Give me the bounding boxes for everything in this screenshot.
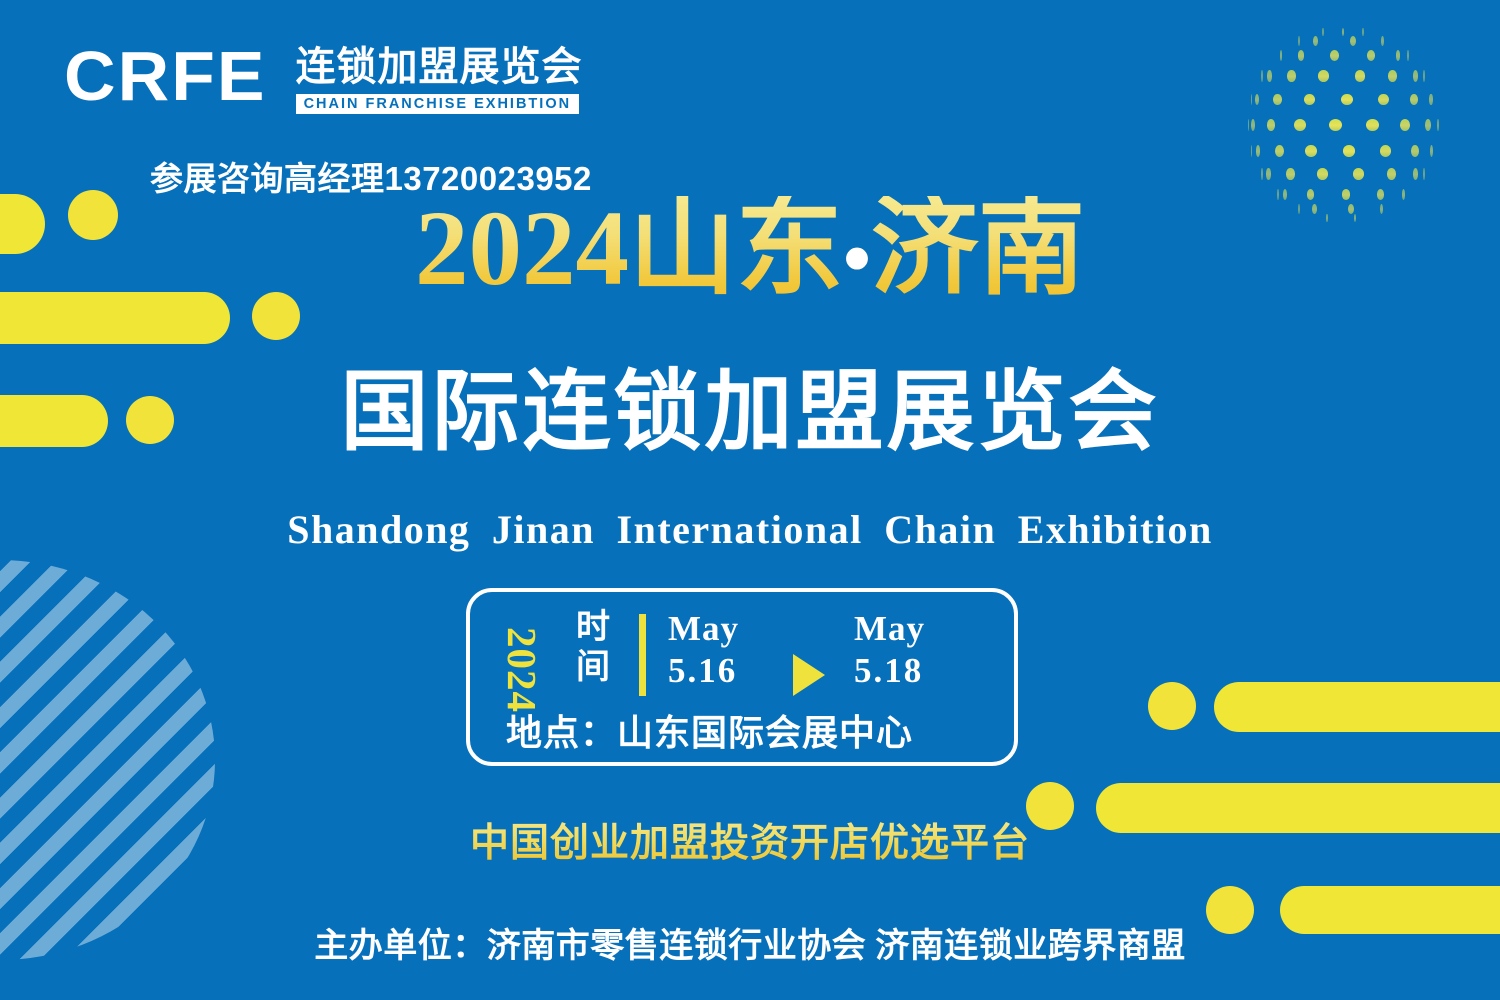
globe-dot — [1381, 36, 1384, 46]
info-start-date: May 5.16 — [668, 608, 739, 692]
decor-bar-right-1 — [1214, 682, 1500, 732]
tagline: 中国创业加盟投资开店优选平台 — [0, 812, 1500, 868]
globe-dot — [1305, 145, 1317, 157]
globe-dot — [1353, 168, 1364, 180]
globe-dot — [1437, 119, 1439, 131]
headline-title-en: Shandong Jinan International Chain Exhib… — [0, 506, 1500, 553]
globe-dot — [1251, 94, 1253, 106]
globe-dot — [1313, 36, 1318, 46]
globe-dot — [1367, 50, 1375, 61]
globe-dot — [1380, 145, 1391, 157]
globe-dot — [1388, 70, 1397, 82]
globe-dot — [1430, 145, 1433, 157]
globe-dot — [1286, 168, 1295, 180]
globe-dot — [1273, 94, 1282, 106]
globe-dot — [1387, 168, 1396, 180]
globe-dot — [1342, 28, 1345, 37]
striped-circle-decor — [0, 560, 215, 960]
brand-logo: CRFE 连锁加盟展览会 CHAIN FRANCHISE EXHIBTION — [64, 44, 534, 122]
headline-title-cn: 国际连锁加盟展览会 — [0, 370, 1500, 458]
info-start-month: May — [668, 608, 739, 650]
globe-dot — [1429, 94, 1432, 106]
event-info-box: 2024 时 间 May 5.16 May 5.18 地点：山东国际会展中心 — [466, 588, 1018, 766]
globe-dot — [1410, 94, 1418, 106]
info-time-label-char2: 间 — [576, 648, 612, 688]
info-start-day: 5.16 — [668, 650, 739, 692]
info-time-label: 时 间 — [576, 608, 612, 688]
globe-dot — [1407, 50, 1409, 61]
logo-mark-crfe: CRFE — [64, 44, 267, 108]
globe-dot — [1343, 145, 1356, 157]
globe-dot — [1378, 94, 1389, 106]
globe-icon — [1248, 30, 1438, 220]
globe-dot — [1317, 168, 1328, 180]
headline-separator-dot: • — [843, 215, 871, 303]
info-vertical-divider — [639, 614, 646, 696]
headline-city: 济南 — [871, 190, 1085, 308]
globe-dot — [1251, 145, 1253, 157]
globe-dot — [1396, 50, 1401, 61]
globe-dot — [1355, 70, 1366, 82]
globe-dot — [1255, 94, 1259, 106]
poster-canvas: CRFE 连锁加盟展览会 CHAIN FRANCHISE EXHIBTION 参… — [0, 0, 1500, 1000]
globe-dot — [1261, 70, 1263, 82]
globe-dot — [1329, 119, 1342, 131]
globe-dot — [1350, 36, 1356, 46]
info-end-day: 5.18 — [854, 650, 925, 692]
globe-dot — [1294, 119, 1306, 131]
globe-dot — [1413, 168, 1418, 180]
info-venue: 地点：山东国际会展中心 — [506, 704, 913, 756]
info-end-month: May — [854, 608, 925, 650]
globe-dot — [1330, 50, 1339, 61]
info-time-label-char1: 时 — [576, 608, 612, 648]
globe-dot — [1362, 28, 1364, 37]
globe-dot — [1266, 168, 1271, 180]
globe-dot — [1400, 119, 1410, 131]
globe-dot — [1256, 145, 1261, 157]
globe-dot — [1248, 119, 1250, 131]
globe-dot — [1280, 50, 1283, 61]
info-end-date: May 5.18 — [854, 608, 925, 692]
globe-dot — [1413, 70, 1418, 82]
globe-dot — [1287, 70, 1296, 82]
globe-dot — [1267, 119, 1275, 131]
globe-dot — [1366, 119, 1378, 131]
globe-dot — [1267, 70, 1272, 82]
globe-dot — [1275, 145, 1284, 157]
globe-dot — [1423, 70, 1425, 82]
globe-dot — [1318, 70, 1329, 82]
globe-dot — [1298, 50, 1305, 61]
globe-dot — [1261, 168, 1263, 180]
globe-dot — [1322, 28, 1324, 37]
date-range-arrow-icon — [793, 654, 825, 696]
globe-dot — [1423, 168, 1425, 180]
globe-dot — [1425, 119, 1431, 131]
globe-dot — [1251, 119, 1255, 131]
headline-year-city: 2024山东•济南 — [0, 196, 1500, 303]
decor-dot-right-1 — [1148, 682, 1196, 730]
globe-dot — [1304, 94, 1316, 106]
logo-name-cn: 连锁加盟展览会 — [296, 46, 583, 88]
headline-year-city-prefix: 2024山东 — [415, 190, 843, 308]
organizer-line: 主办单位：济南市零售连锁行业协会 济南连锁业跨界商盟 — [0, 918, 1500, 967]
logo-name-en: CHAIN FRANCHISE EXHIBTION — [296, 94, 580, 114]
globe-dot — [1298, 36, 1300, 46]
globe-dot — [1411, 145, 1419, 157]
globe-dot — [1341, 94, 1354, 106]
